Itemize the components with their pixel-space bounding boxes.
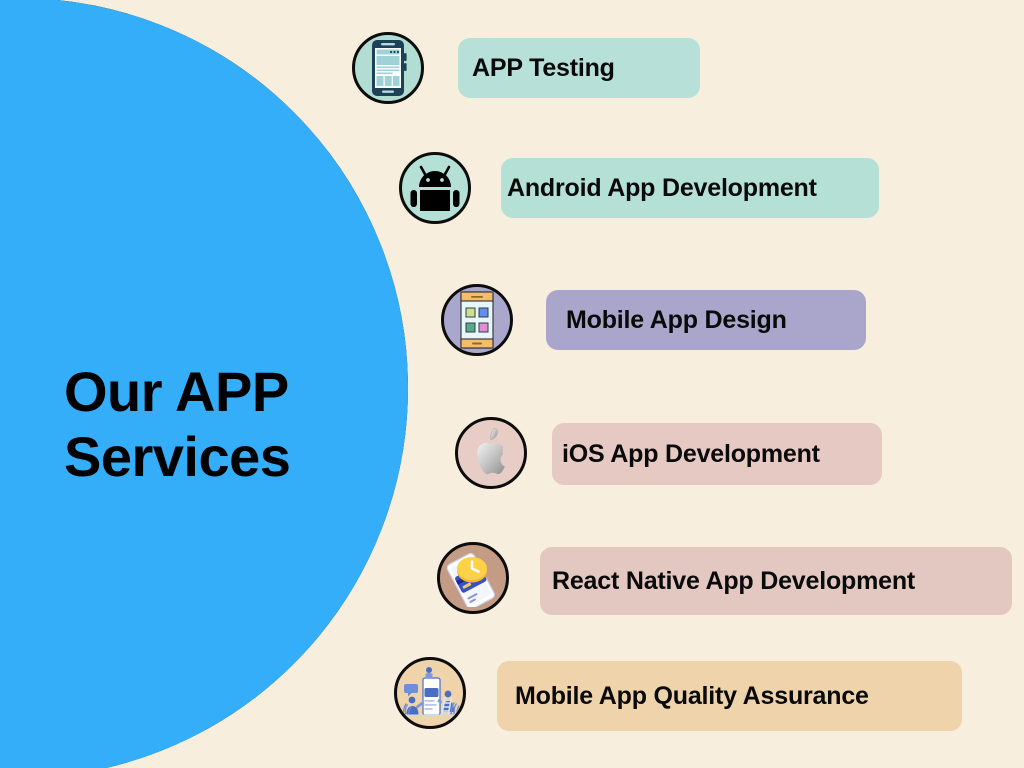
service-label: Mobile App Quality Assurance	[515, 682, 869, 711]
service-label: APP Testing	[472, 54, 615, 83]
service-pill-ios-app-development[interactable]: iOS App Development	[552, 423, 882, 485]
poster-canvas: Our APP Services APP Testing	[0, 0, 1024, 768]
service-pill-android-app-development[interactable]: Android App Development	[501, 158, 879, 218]
service-label: Android App Development	[507, 174, 817, 203]
service-label: React Native App Development	[552, 567, 915, 596]
service-pill-mobile-app-quality-assurance[interactable]: Mobile App Quality Assurance	[497, 661, 962, 731]
service-pill-mobile-app-design[interactable]: Mobile App Design	[546, 290, 866, 350]
page-title: Our APP Services	[64, 360, 364, 490]
smartphone-wireframe-icon	[352, 32, 424, 104]
page-title-line-2: Services	[64, 425, 364, 490]
service-label: Mobile App Design	[566, 306, 787, 335]
page-title-line-1: Our APP	[64, 360, 364, 425]
apple-logo-icon	[455, 417, 527, 489]
service-pill-app-testing[interactable]: APP Testing	[458, 38, 700, 98]
phone-card-coin-icon	[437, 542, 509, 614]
android-robot-icon	[399, 152, 471, 224]
service-label: iOS App Development	[562, 440, 820, 469]
qa-team-illustration-icon	[394, 657, 466, 729]
phone-app-grid-icon	[441, 284, 513, 356]
service-pill-react-native-app-development[interactable]: React Native App Development	[540, 547, 1012, 615]
